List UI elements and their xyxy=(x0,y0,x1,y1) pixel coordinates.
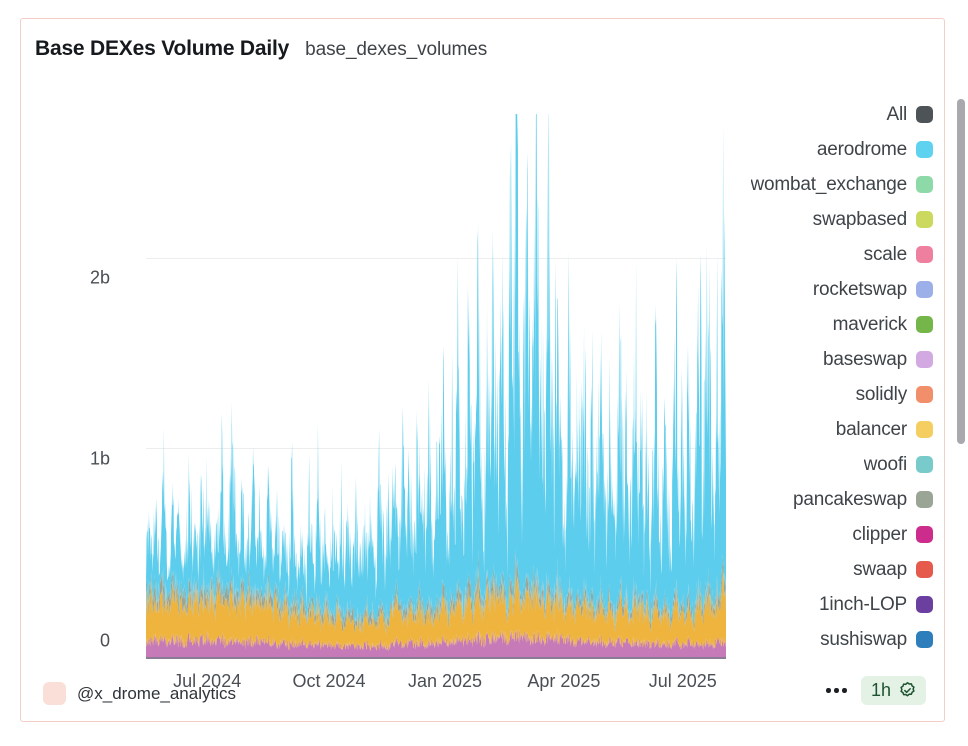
legend-color-swatch xyxy=(916,211,933,228)
legend-item-1inch-lop[interactable]: 1inch-LOP xyxy=(733,587,933,622)
avatar xyxy=(43,682,66,705)
legend-item-label: balancer xyxy=(836,419,907,441)
legend-color-swatch xyxy=(916,561,933,578)
legend-item-label: aerodrome xyxy=(817,139,907,161)
refresh-interval-label: 1h xyxy=(871,680,891,701)
legend-item-wombat-exchange[interactable]: wombat_exchange xyxy=(733,167,933,202)
legend-color-swatch xyxy=(916,526,933,543)
legend-item-solidly[interactable]: solidly xyxy=(733,377,933,412)
legend-item-label: swaap xyxy=(853,559,907,581)
legend-item-label: All xyxy=(886,104,907,126)
legend-scrollbar-thumb[interactable] xyxy=(957,99,965,444)
legend-color-swatch xyxy=(916,456,933,473)
legend-item-pancakeswap[interactable]: pancakeswap xyxy=(733,482,933,517)
legend-item-label: woofi xyxy=(864,454,907,476)
legend-item-maverick[interactable]: maverick xyxy=(733,307,933,342)
legend-color-swatch xyxy=(916,491,933,508)
legend-item-balancer[interactable]: balancer xyxy=(733,412,933,447)
x-axis-tick-label: Jul 2025 xyxy=(649,671,717,692)
axis-baseline xyxy=(146,657,726,659)
legend-color-swatch xyxy=(916,316,933,333)
chart-legend[interactable]: Allaerodromewombat_exchangeswapbasedscal… xyxy=(733,97,933,657)
legend-color-swatch xyxy=(916,421,933,438)
legend-item-label: pancakeswap xyxy=(793,489,907,511)
legend-item-scale[interactable]: scale xyxy=(733,237,933,272)
legend-color-swatch xyxy=(916,386,933,403)
legend-item-sushiswap[interactable]: sushiswap xyxy=(733,622,933,657)
legend-item-aerodrome[interactable]: aerodrome xyxy=(733,132,933,167)
footer-controls: 1h xyxy=(823,676,926,705)
legend-color-swatch xyxy=(916,596,933,613)
legend-item-rocketswap[interactable]: rocketswap xyxy=(733,272,933,307)
legend-item-label: 1inch-LOP xyxy=(819,594,907,616)
x-axis-tick-label: Oct 2024 xyxy=(292,671,365,692)
legend-item-label: scale xyxy=(864,244,907,266)
y-axis-tick-label: 0 xyxy=(100,631,110,652)
watermark: @x_drome_analytics xyxy=(43,682,236,705)
chart-plot-area[interactable] xyxy=(126,114,726,659)
watermark-handle: @x_drome_analytics xyxy=(77,684,236,704)
legend-color-swatch xyxy=(916,246,933,263)
legend-item-all[interactable]: All xyxy=(733,97,933,132)
legend-item-label: baseswap xyxy=(823,349,907,371)
chart-header: Base DEXes Volume Daily base_dexes_volum… xyxy=(35,37,487,61)
legend-color-swatch xyxy=(916,351,933,368)
legend-color-swatch xyxy=(916,176,933,193)
verified-check-icon xyxy=(898,681,917,700)
legend-item-swaap[interactable]: swaap xyxy=(733,552,933,587)
y-axis-tick-label: 1b xyxy=(90,449,110,470)
legend-item-woofi[interactable]: woofi xyxy=(733,447,933,482)
more-options-button[interactable] xyxy=(823,683,850,698)
legend-item-label: maverick xyxy=(833,314,907,336)
legend-color-swatch xyxy=(916,281,933,298)
x-axis-tick-label: Jan 2025 xyxy=(408,671,482,692)
legend-item-label: clipper xyxy=(852,524,907,546)
dot-icon xyxy=(826,688,831,693)
legend-item-label: wombat_exchange xyxy=(751,174,908,196)
refresh-interval-badge[interactable]: 1h xyxy=(861,676,926,705)
dot-icon xyxy=(834,688,839,693)
chart-card: Base DEXes Volume Daily base_dexes_volum… xyxy=(20,18,945,722)
chart-subtitle: base_dexes_volumes xyxy=(305,39,487,61)
legend-color-swatch xyxy=(916,141,933,158)
area-series-aerodrome xyxy=(146,114,726,628)
stacked-area-series xyxy=(146,114,726,659)
legend-item-label: swapbased xyxy=(813,209,907,231)
legend-item-label: solidly xyxy=(856,384,907,406)
legend-color-swatch xyxy=(916,106,933,123)
dot-icon xyxy=(842,688,847,693)
legend-color-swatch xyxy=(916,631,933,648)
page-title: Base DEXes Volume Daily xyxy=(35,37,289,61)
chart-plot-inner xyxy=(146,114,726,659)
y-axis-tick-label: 2b xyxy=(90,267,110,288)
legend-item-clipper[interactable]: clipper xyxy=(733,517,933,552)
x-axis-tick-label: Apr 2025 xyxy=(527,671,600,692)
legend-item-baseswap[interactable]: baseswap xyxy=(733,342,933,377)
legend-item-label: sushiswap xyxy=(820,629,907,651)
legend-item-label: rocketswap xyxy=(813,279,907,301)
legend-item-swapbased[interactable]: swapbased xyxy=(733,202,933,237)
